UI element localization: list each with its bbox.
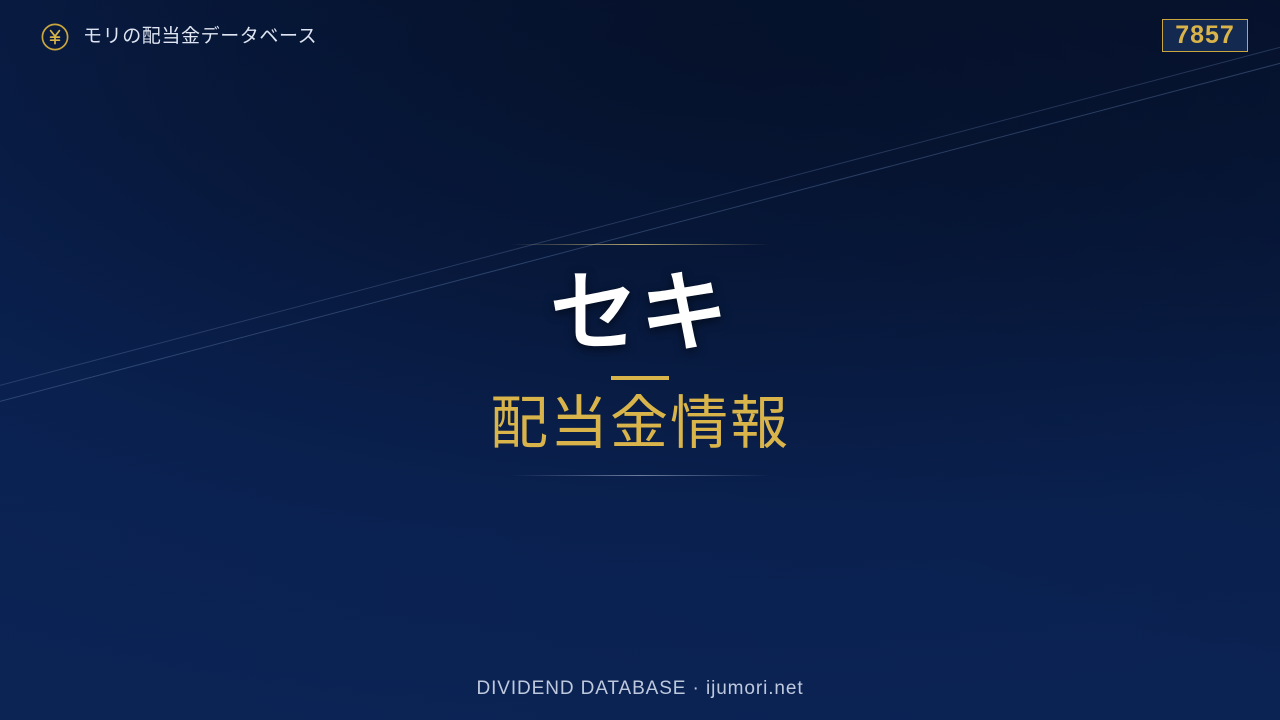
brand[interactable]: モリの配当金データベース bbox=[40, 22, 317, 52]
page-header: モリの配当金データベース 7857 bbox=[0, 0, 1280, 92]
page-footer: DIVIDEND DATABASE · ijumori.net bbox=[0, 658, 1280, 720]
background-diagonal-lines bbox=[0, 0, 1280, 720]
yen-coin-icon bbox=[40, 22, 70, 52]
slide-canvas: モリの配当金データベース 7857 セキ 配当金情報 DIVIDEND DATA… bbox=[0, 0, 1280, 720]
footer-text: DIVIDEND DATABASE · ijumori.net bbox=[476, 678, 803, 700]
ticker-code: 7857 bbox=[1175, 21, 1235, 50]
ticker-badge[interactable]: 7857 bbox=[1162, 19, 1248, 52]
brand-name: モリの配当金データベース bbox=[83, 22, 317, 52]
